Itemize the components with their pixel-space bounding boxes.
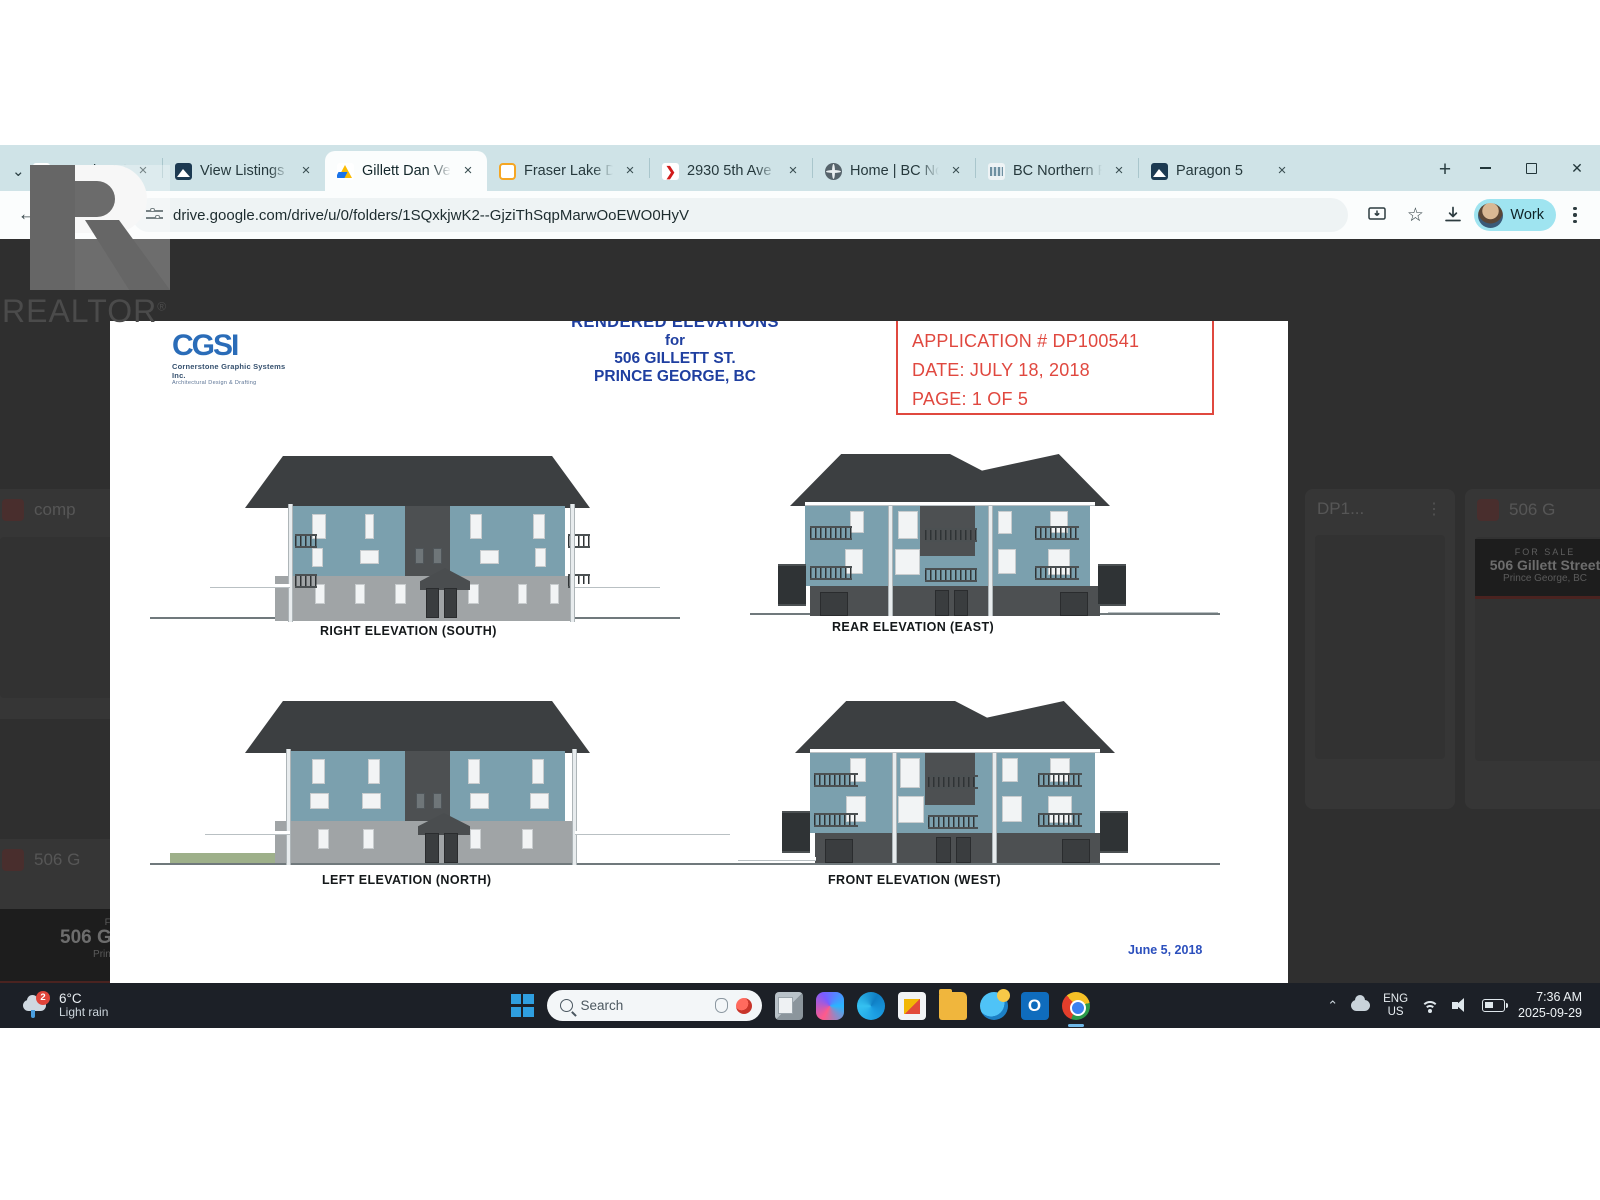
elevation-drawing-front-west: FRONT ELEVATION (WEST)	[750, 701, 1220, 891]
elevation-label: FRONT ELEVATION (WEST)	[828, 873, 1001, 887]
browser-tab[interactable]: Fraser Lake Dhal×	[487, 151, 649, 191]
profile-chip[interactable]: Work	[1474, 199, 1556, 231]
card-menu-icon[interactable]: ⋮	[1426, 499, 1443, 519]
google-drive-icon	[337, 163, 354, 180]
tab-title: Gillett Dan Veller	[362, 163, 451, 179]
download-icon[interactable]	[1436, 198, 1470, 232]
tab-close-icon[interactable]: ×	[297, 162, 315, 180]
tab-title: Google Drive m	[58, 163, 126, 179]
document-title-block: RENDERED ELEVATIONS for 506 GILLETT ST. …	[510, 321, 840, 387]
taskbar-app-outlook[interactable]	[1021, 992, 1049, 1020]
document-address-line2: PRINCE GEORGE, BC	[510, 368, 840, 386]
tab-close-icon[interactable]: ×	[947, 162, 965, 180]
browser-tab[interactable]: View Listings×	[163, 151, 325, 191]
start-button-icon[interactable]	[511, 994, 534, 1017]
browser-tab[interactable]: Gillett Dan Veller×	[325, 151, 487, 191]
tab-close-icon[interactable]: ×	[134, 162, 152, 180]
elevation-drawing-right-south: RIGHT ELEVATION (SOUTH)	[150, 456, 680, 641]
bookmark-star-icon[interactable]: ☆	[1398, 198, 1432, 232]
elevation-drawing-rear-east: REAR ELEVATION (EAST)	[750, 454, 1220, 639]
highlight-icon[interactable]	[736, 998, 752, 1014]
windows-taskbar: 2 6°C Light rain Search	[0, 983, 1600, 1028]
paragon-icon	[175, 163, 192, 180]
taskbar-app-file-explorer[interactable]	[939, 992, 967, 1020]
tab-close-icon[interactable]: ×	[784, 162, 802, 180]
tab-close-icon[interactable]: ×	[1110, 162, 1128, 180]
application-stamp: APPLICATION # DP100541 DATE: JULY 18, 20…	[896, 321, 1214, 415]
pdf-icon	[1477, 499, 1499, 521]
maximize-button[interactable]	[1508, 148, 1554, 188]
new-tab-button[interactable]: +	[1428, 153, 1462, 187]
chrome-menu-icon[interactable]	[1560, 198, 1590, 232]
browser-toolbar: ← → ↻ drive.google.com/drive/u/0/folders…	[0, 191, 1600, 239]
paragon-icon	[1151, 163, 1168, 180]
gmail-drive-icon	[33, 163, 50, 180]
page-viewport: comp 506 G FOR SALE 506 Gillett Street P…	[0, 239, 1600, 983]
globe-icon	[825, 163, 842, 180]
tab-close-icon[interactable]: ×	[1273, 162, 1291, 180]
cgsi-logo-mark: CGSI	[172, 331, 292, 361]
taskbar-app-edge[interactable]	[857, 992, 885, 1020]
stamp-application-number: APPLICATION # DP100541	[912, 327, 1198, 356]
card-thumbnail	[1315, 535, 1445, 759]
cgsi-logo: CGSI Cornerstone Graphic Systems Inc. Ar…	[172, 331, 292, 386]
volume-icon[interactable]	[1452, 998, 1469, 1013]
address-bar[interactable]: drive.google.com/drive/u/0/folders/1SQxk…	[132, 198, 1348, 232]
taskbar-app-microsoft-store[interactable]	[898, 992, 926, 1020]
background-card: 506 G	[1465, 489, 1600, 809]
document-title: RENDERED ELEVATIONS	[510, 321, 840, 332]
tab-close-icon[interactable]: ×	[621, 162, 639, 180]
profile-label: Work	[1510, 207, 1544, 223]
browser-tab[interactable]: ⌄Google Drive m×	[0, 151, 162, 191]
bcn-icon	[988, 163, 1005, 180]
background-card-title: comp	[34, 500, 76, 520]
orange-square-icon	[499, 163, 516, 180]
taskbar-app-task-view[interactable]	[775, 992, 803, 1020]
pdf-icon	[2, 849, 24, 871]
tab-title: Paragon 5	[1176, 163, 1265, 179]
tab-title: Fraser Lake Dhal	[524, 163, 613, 179]
tab-close-icon[interactable]: ×	[459, 162, 477, 180]
screen: ⌄Google Drive m×View Listings×Gillett Da…	[0, 0, 1600, 1200]
site-settings-icon[interactable]	[146, 208, 163, 222]
browser-tab[interactable]: BC Northern Rea×	[976, 151, 1138, 191]
background-card-title: 506 G	[1509, 500, 1555, 520]
tab-search-chevron-icon[interactable]: ⌄	[12, 162, 25, 180]
banner-subtitle: Prince George, BC	[1475, 573, 1600, 584]
search-icon	[560, 999, 573, 1012]
background-card-title: 506 G	[34, 850, 80, 870]
microphone-icon[interactable]	[715, 998, 728, 1013]
stamp-date: DATE: JULY 18, 2018	[912, 356, 1198, 385]
elevation-drawing-left-north: LEFT ELEVATION (NORTH)	[150, 701, 750, 891]
browser-tab[interactable]: Home | BC North×	[813, 151, 975, 191]
document-preview-sheet: CGSI Cornerstone Graphic Systems Inc. Ar…	[110, 321, 1288, 983]
tab-title: Home | BC North	[850, 163, 939, 179]
search-placeholder: Search	[581, 998, 707, 1013]
banner-eyebrow: FOR SALE	[1475, 539, 1600, 557]
battery-icon[interactable]	[1482, 999, 1505, 1012]
background-card-title: DP1...	[1317, 499, 1364, 519]
document-title-for: for	[510, 332, 840, 350]
forward-button[interactable]: →	[48, 198, 82, 232]
cgsi-logo-line1: Cornerstone Graphic Systems Inc.	[172, 362, 292, 380]
reload-button[interactable]: ↻	[86, 198, 120, 232]
elevation-label: LEFT ELEVATION (NORTH)	[322, 873, 491, 887]
window-controls: ✕	[1462, 145, 1600, 191]
address-bar-url: drive.google.com/drive/u/0/folders/1SQxk…	[173, 207, 689, 224]
stamp-page: PAGE: 1 OF 5	[912, 385, 1198, 414]
tab-list: ⌄Google Drive m×View Listings×Gillett Da…	[0, 145, 1422, 191]
taskbar-app-weather[interactable]	[980, 992, 1008, 1020]
close-window-button[interactable]: ✕	[1554, 148, 1600, 188]
document-address-line1: 506 GILLETT ST.	[510, 350, 840, 368]
cgsi-logo-line2: Architectural Design & Drafting	[172, 380, 292, 386]
banner-title: 506 Gillett Street	[1475, 557, 1600, 573]
document-issue-date: June 5, 2018	[1128, 943, 1202, 957]
avatar	[1478, 203, 1503, 228]
pdf-icon	[2, 499, 24, 521]
background-listing-banner: FOR SALE 506 Gillett Street Prince Georg…	[1475, 539, 1600, 599]
taskbar-app-chrome[interactable]	[1062, 992, 1090, 1020]
wifi-icon[interactable]	[1421, 999, 1439, 1012]
minimize-button[interactable]	[1462, 148, 1508, 188]
back-button[interactable]: ←	[10, 198, 44, 232]
tab-title: BC Northern Rea	[1013, 163, 1102, 179]
chrome-browser-window: ⌄Google Drive m×View Listings×Gillett Da…	[0, 145, 1600, 983]
elevation-label: REAR ELEVATION (EAST)	[832, 620, 994, 634]
browser-tab[interactable]: 2930 5th Ave LE×	[650, 151, 812, 191]
onedrive-icon[interactable]	[1351, 1000, 1370, 1011]
browser-tab[interactable]: Paragon 5×	[1139, 151, 1301, 191]
tab-title: 2930 5th Ave LE	[687, 163, 776, 179]
red-arrow-icon	[662, 163, 679, 180]
tab-strip: ⌄Google Drive m×View Listings×Gillett Da…	[0, 145, 1600, 191]
install-app-icon[interactable]	[1360, 198, 1394, 232]
elevation-label: RIGHT ELEVATION (SOUTH)	[320, 624, 497, 638]
taskbar-app-copilot[interactable]	[816, 992, 844, 1020]
tab-title: View Listings	[200, 163, 289, 179]
background-card: DP1... ⋮	[1305, 489, 1455, 809]
search-input[interactable]: Search	[547, 990, 762, 1021]
